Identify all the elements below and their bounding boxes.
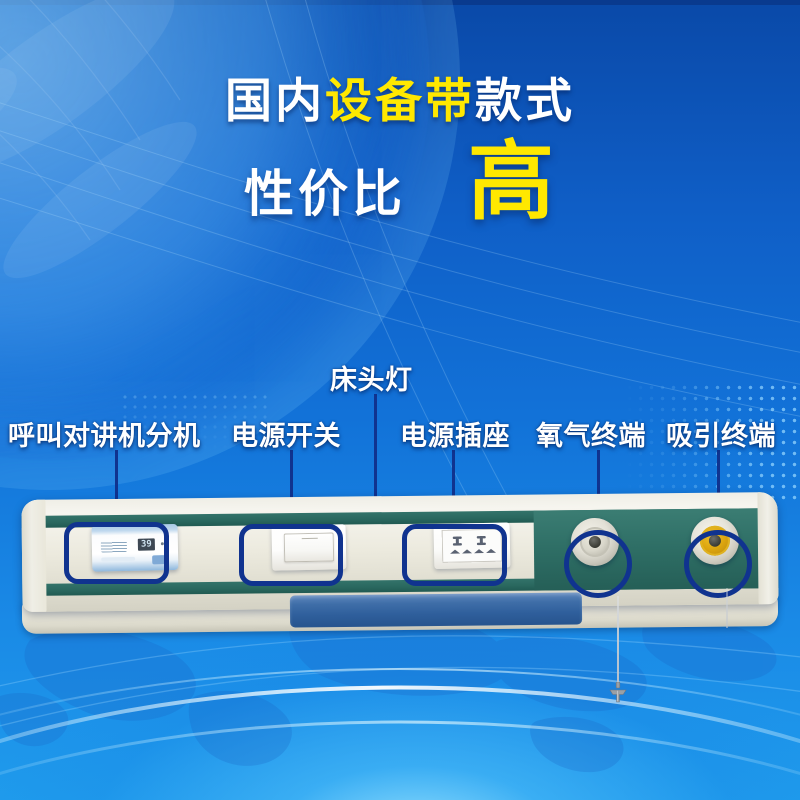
highlight-circle-oxygen-terminal <box>564 530 632 598</box>
callout-label-oxygen-terminal: 氧气终端 <box>536 414 646 453</box>
oxygen-probe-cord <box>617 596 619 686</box>
callout-label-bed-lamp: 床头灯 <box>330 358 413 397</box>
callout-label-power-socket: 电源插座 <box>400 414 510 453</box>
highlight-box-power-switch <box>239 524 343 586</box>
highlight-box-power-socket <box>402 524 507 586</box>
callout-label-power-switch: 电源开关 <box>231 414 341 453</box>
panel-end-cap-left <box>21 498 46 612</box>
highlight-circle-suction-terminal <box>684 530 752 598</box>
suction-probe-cord <box>726 588 728 628</box>
promo-banner: 国内设备带款式 性价比 高 呼叫对讲机分机 电源开关 床头灯 电源插座 氧气终端… <box>0 0 800 800</box>
oxygen-probe-connector <box>609 682 627 704</box>
highlight-box-call-intercom <box>64 522 169 584</box>
panel-end-cap-right <box>757 492 778 606</box>
panel-blue-cover-lid[interactable] <box>290 592 582 627</box>
callout-label-suction-terminal: 吸引终端 <box>666 414 776 453</box>
callout-label-call-intercom: 呼叫对讲机分机 <box>8 414 201 453</box>
